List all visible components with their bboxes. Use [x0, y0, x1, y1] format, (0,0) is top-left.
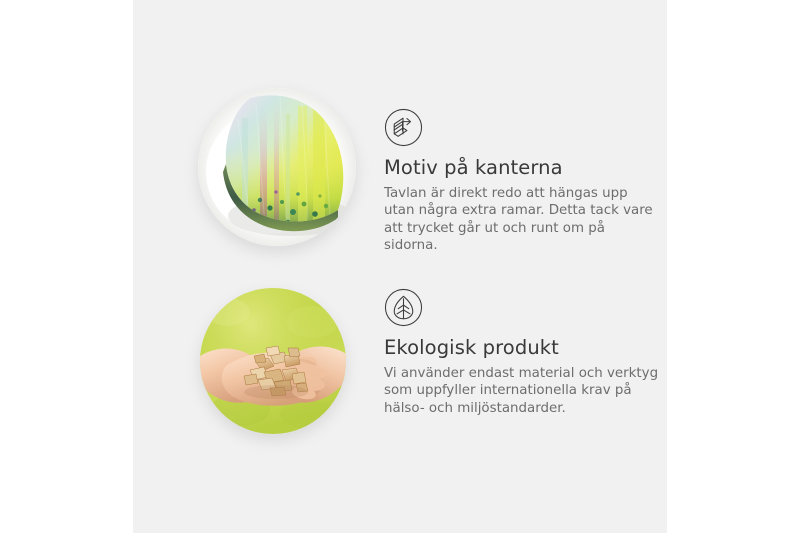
canvas-print-corner-photo — [198, 88, 356, 246]
feature-title: Motiv på kanterna — [384, 157, 659, 179]
feature-description: Vi använder endast material och verktyg … — [384, 365, 659, 417]
hands-holding-wood-chips-photo — [200, 288, 346, 434]
feature-description: Tavlan är direkt redo att hängas upp uta… — [384, 185, 659, 254]
leaf-icon — [384, 288, 423, 327]
feature-text-2: Ekologisk produkt Vi använder endast mat… — [384, 288, 659, 417]
product-feature-banner: Motiv på kanterna Tavlan är direkt redo … — [0, 0, 800, 533]
canvas-wrapped-edge-icon — [384, 108, 423, 147]
content-panel: Motiv på kanterna Tavlan är direkt redo … — [133, 0, 667, 533]
feature-text-1: Motiv på kanterna Tavlan är direkt redo … — [384, 108, 659, 254]
feature-title: Ekologisk produkt — [384, 337, 659, 359]
